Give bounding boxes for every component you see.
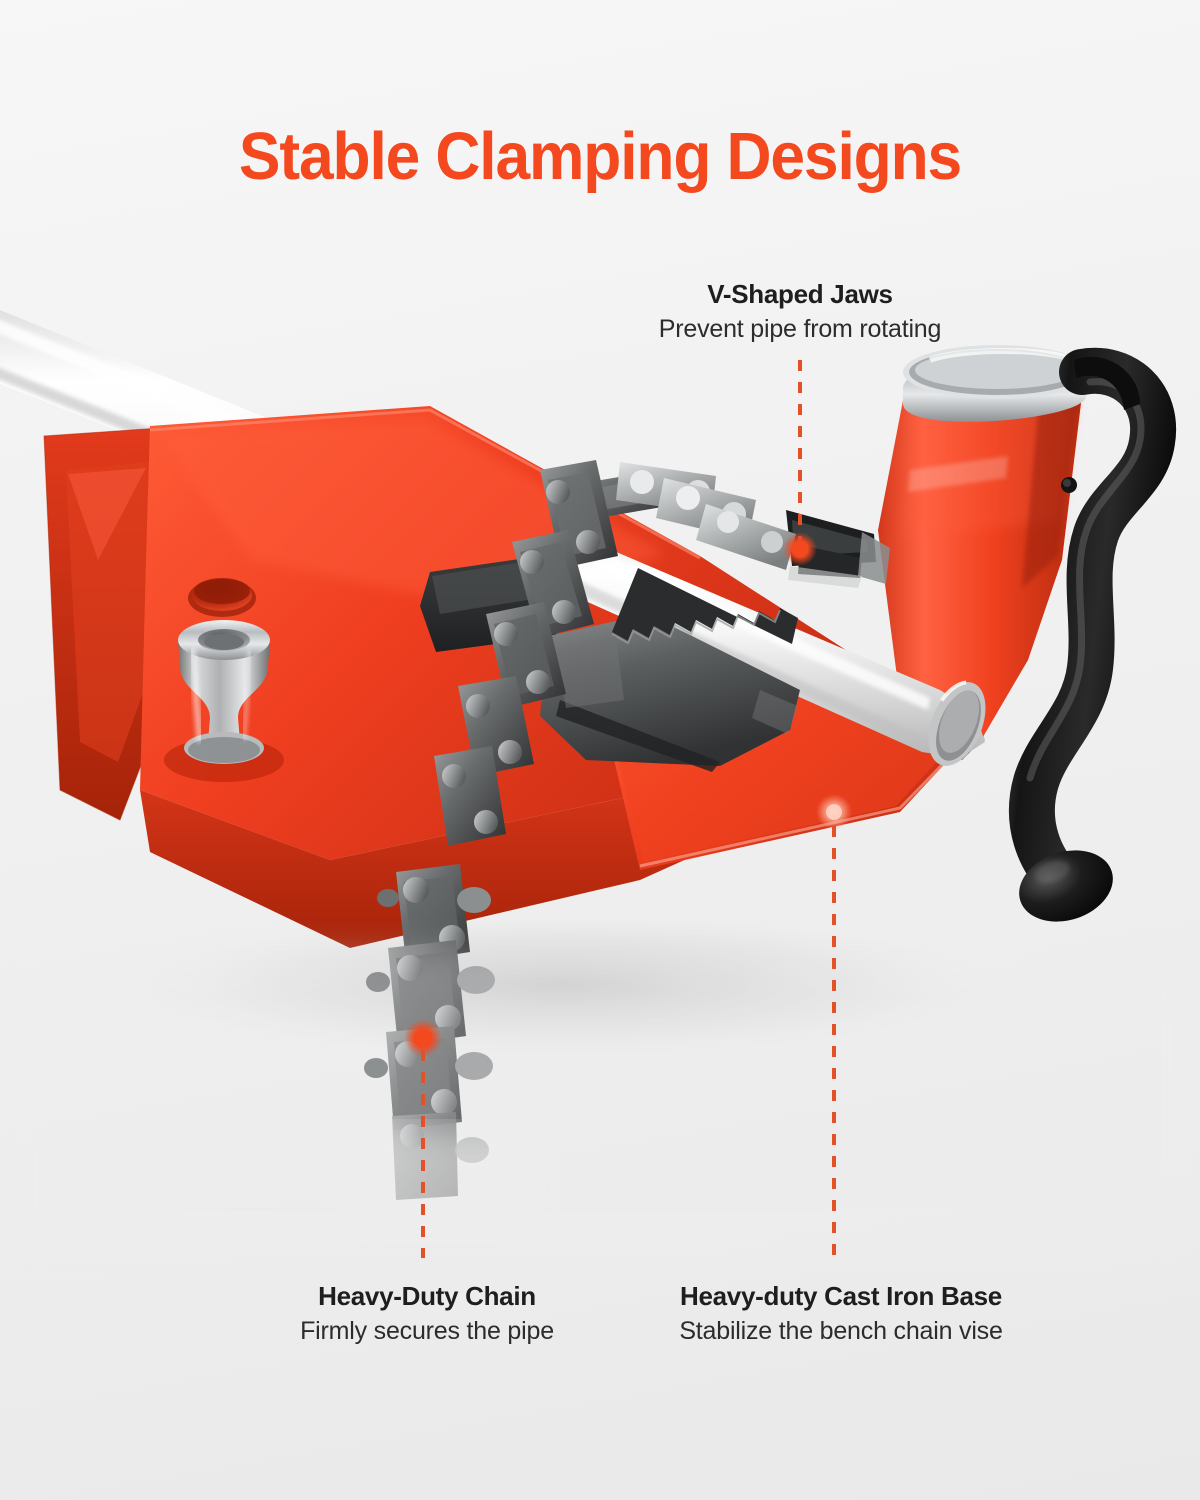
callout-cast-iron-base: Heavy-duty Cast Iron Base Stabilize the …	[541, 1282, 1141, 1347]
callout-subtitle-jaws: Prevent pipe from rotating	[500, 314, 1100, 345]
callout-title-jaws: V-Shaped Jaws	[500, 280, 1100, 310]
page-title: Stable Clamping Designs	[42, 118, 1158, 195]
marker-dot-jaws	[792, 541, 809, 558]
callout-leaders	[0, 0, 1200, 1500]
marker-dot-base	[826, 804, 842, 820]
marker-dot-chain	[414, 1029, 432, 1047]
callout-subtitle-base: Stabilize the bench chain vise	[541, 1316, 1141, 1347]
callout-title-base: Heavy-duty Cast Iron Base	[541, 1282, 1141, 1312]
callout-v-shaped-jaws: V-Shaped Jaws Prevent pipe from rotating	[500, 280, 1100, 345]
marketing-image: Stable Clamping Designs V-Shaped Jaws Pr…	[0, 0, 1200, 1500]
